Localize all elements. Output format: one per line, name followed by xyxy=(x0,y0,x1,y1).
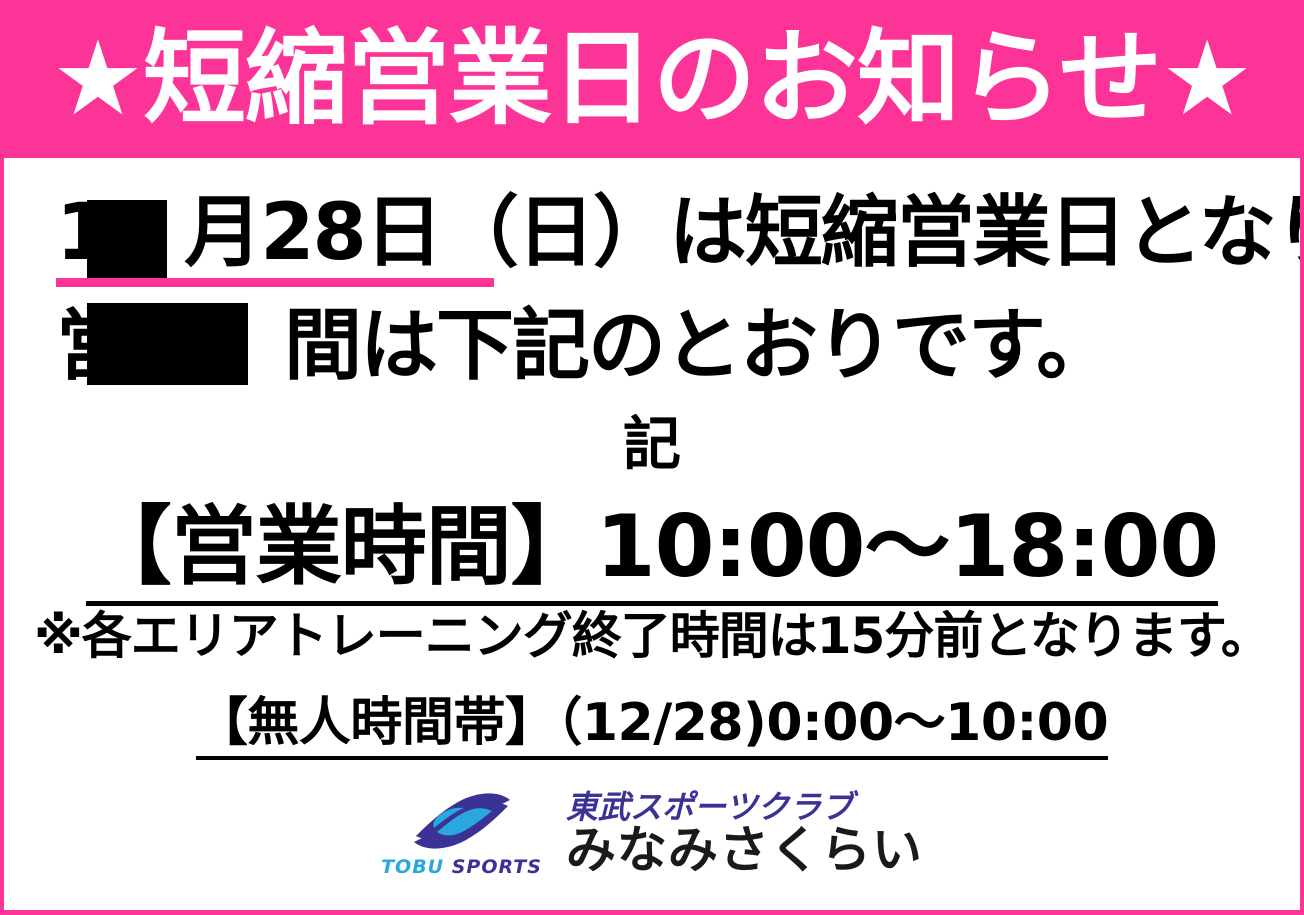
club-name: 東武スポーツクラブ xyxy=(566,791,853,823)
club-logo: TOBU SPORTS 東武スポーツクラブ みなみさくらい xyxy=(4,788,1300,877)
unmanned-hours-label: 【無人時間帯】 xyxy=(196,693,557,753)
pink-underline xyxy=(56,278,494,287)
notice-line-ki: 記 xyxy=(4,415,1300,473)
business-hours-line: 【営業時間】10:00〜18:00 xyxy=(4,504,1300,590)
logo-mark-group: TOBU SPORTS xyxy=(381,788,542,877)
notice-line-date: 1 月28日（日）は短縮営業日となります。 xyxy=(56,194,1304,272)
tobu-sports-wordmark: TOBU SPORTS xyxy=(381,858,542,877)
business-hours-value: 10:00〜18:00 xyxy=(596,497,1219,597)
logo-text-group: 東武スポーツクラブ みなみさくらい xyxy=(566,791,923,875)
page-title: ★短縮営業日のお知らせ★ xyxy=(52,28,1253,131)
business-hours-label: 【営業時間】 xyxy=(86,497,596,597)
unmanned-hours-value: （12/28)0:00〜10:00 xyxy=(556,693,1108,753)
notice-body: 1 月28日（日）は短縮営業日となります。 営 間は下記のとおりです。 記 【営… xyxy=(4,158,1300,910)
tobu-sports-s-icon xyxy=(404,788,520,854)
sports-text: SPORTS xyxy=(452,856,542,878)
header-banner: ★短縮営業日のお知らせ★ xyxy=(0,0,1304,158)
branch-name: みなみさくらい xyxy=(566,825,923,875)
unmanned-hours-line: 【無人時間帯】（12/28)0:00〜10:00 xyxy=(4,697,1300,749)
redaction-box-hours xyxy=(87,303,248,385)
notice-poster: ★短縮営業日のお知らせ★ 1 月28日（日）は短縮営業日となります。 営 間は下… xyxy=(0,0,1304,915)
redaction-box-month xyxy=(87,200,167,278)
tobu-text: TOBU xyxy=(381,856,444,878)
training-end-note: ※各エリアトレーニング終了時間は15分前となります。 xyxy=(4,611,1300,661)
